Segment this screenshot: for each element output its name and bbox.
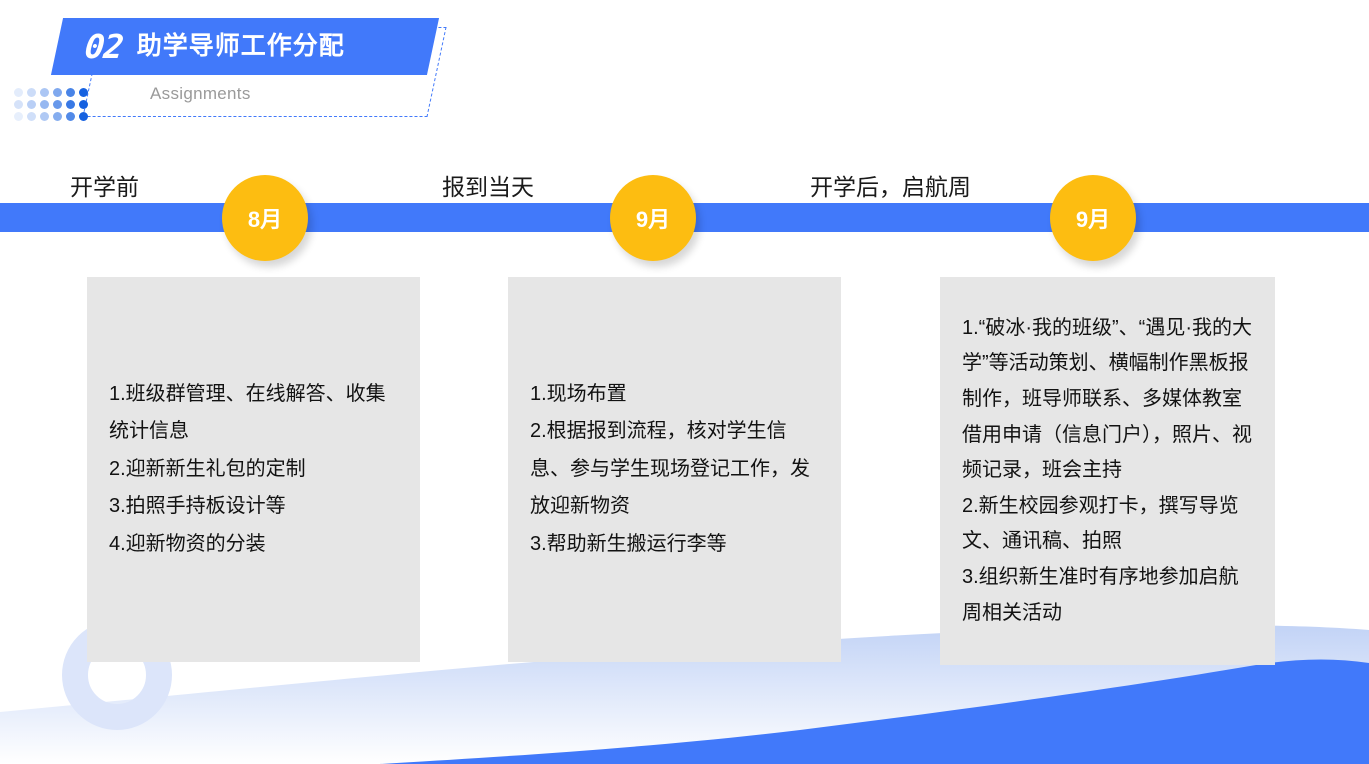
dot bbox=[27, 112, 36, 121]
dot bbox=[40, 88, 49, 97]
dot bbox=[27, 88, 36, 97]
dot-grid-decoration bbox=[14, 88, 92, 124]
dot bbox=[79, 112, 88, 121]
timeline-label-0: 开学前 bbox=[70, 168, 139, 202]
dot bbox=[14, 100, 23, 109]
dot bbox=[53, 88, 62, 97]
dot bbox=[14, 88, 23, 97]
timeline-label-1: 报到当天 bbox=[442, 168, 534, 202]
card-line: 1.班级群管理、在线解答、收集统计信息 bbox=[109, 376, 398, 451]
card-line: 2.新生校园参观打卡，撰写导览文、通讯稿、拍照 bbox=[962, 489, 1253, 560]
dot bbox=[66, 88, 75, 97]
dot bbox=[27, 100, 36, 109]
dot bbox=[40, 112, 49, 121]
dot bbox=[66, 112, 75, 121]
card-report-day: 1.现场布置2.根据报到流程，核对学生信息、参与学生现场登记工作，发放迎新物资3… bbox=[508, 277, 841, 662]
card-sail-week: 1.“破冰·我的班级”、“遇见·我的大学”等活动策划、横幅制作黑板报制作，班导师… bbox=[940, 277, 1275, 665]
card-line: 1.现场布置 bbox=[530, 376, 819, 414]
card-line: 2.根据报到流程，核对学生信息、参与学生现场登记工作，发放迎新物资 bbox=[530, 413, 819, 526]
card-line: 1.“破冰·我的班级”、“遇见·我的大学”等活动策划、横幅制作黑板报制作，班导师… bbox=[962, 311, 1253, 489]
dot bbox=[53, 112, 62, 121]
card-pre-term: 1.班级群管理、在线解答、收集统计信息2.迎新新生礼包的定制3.拍照手持板设计等… bbox=[87, 277, 420, 662]
timeline-marker-0: 8月 bbox=[222, 175, 308, 261]
dot bbox=[40, 100, 49, 109]
timeline-label-2: 开学后，启航周 bbox=[810, 168, 971, 202]
page-title: 助学导师工作分配 bbox=[137, 34, 345, 59]
dot bbox=[14, 112, 23, 121]
card-line: 3.帮助新生搬运行李等 bbox=[530, 526, 819, 564]
card-line: 2.迎新新生礼包的定制 bbox=[109, 451, 398, 489]
card-line: 3.组织新生准时有序地参加启航周相关活动 bbox=[962, 560, 1253, 631]
dot bbox=[53, 100, 62, 109]
timeline-marker-2: 9月 bbox=[1050, 175, 1136, 261]
slide-canvas: 02 助学导师工作分配 Assignments 开学前报到当天开学后，启航周 8… bbox=[0, 0, 1369, 764]
header-banner-content: 02 助学导师工作分配 bbox=[57, 18, 433, 75]
timeline-marker-1: 9月 bbox=[610, 175, 696, 261]
dot bbox=[66, 100, 75, 109]
slide-header: 02 助学导师工作分配 Assignments bbox=[0, 0, 520, 140]
card-line: 4.迎新物资的分装 bbox=[109, 526, 398, 564]
page-subtitle: Assignments bbox=[150, 84, 251, 104]
section-number: 02 bbox=[83, 30, 124, 63]
dot bbox=[79, 100, 88, 109]
card-line: 3.拍照手持板设计等 bbox=[109, 488, 398, 526]
dot bbox=[79, 88, 88, 97]
blue-wave-shape bbox=[380, 659, 1369, 764]
